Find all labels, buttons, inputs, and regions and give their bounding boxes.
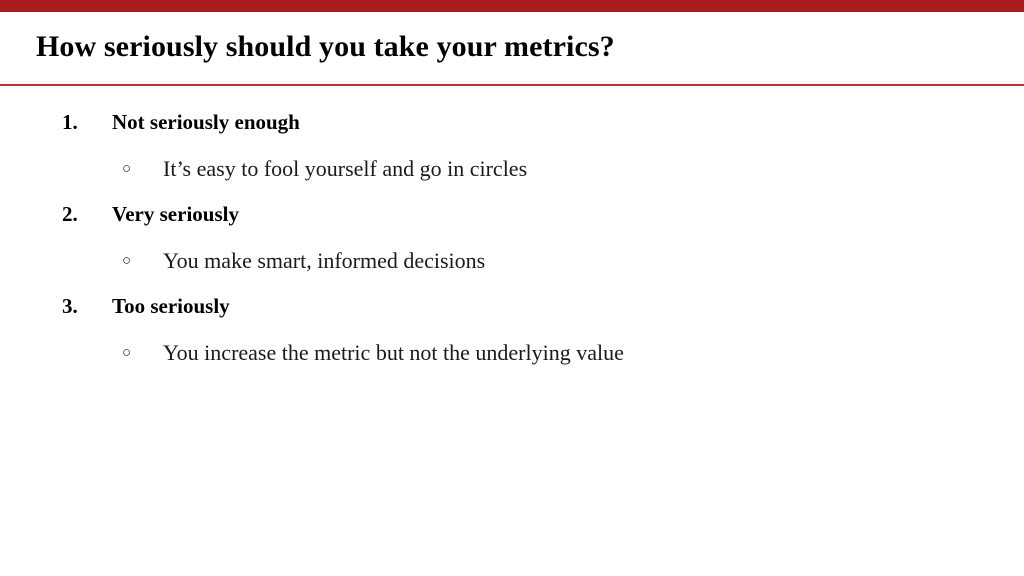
- list-item-label: Too seriously: [112, 294, 230, 319]
- list-item-number: 3.: [62, 294, 112, 319]
- sub-list-item: ○ You make smart, informed decisions: [0, 248, 1024, 294]
- list-item-label: Not seriously enough: [112, 110, 300, 135]
- sub-list-item-label: It’s easy to fool yourself and go in cir…: [163, 156, 527, 182]
- list-item: 1. Not seriously enough: [0, 110, 1024, 156]
- top-accent-bar: [0, 0, 1024, 12]
- sub-list-item: ○ It’s easy to fool yourself and go in c…: [0, 156, 1024, 202]
- circle-bullet-icon: ○: [122, 254, 163, 269]
- circle-bullet-icon: ○: [122, 346, 163, 361]
- sub-list-item-label: You make smart, informed decisions: [163, 248, 485, 274]
- list-item: 3. Too seriously: [0, 294, 1024, 340]
- sub-list-item-label: You increase the metric but not the unde…: [163, 340, 624, 366]
- list-item-label: Very seriously: [112, 202, 239, 227]
- content-list: 1. Not seriously enough ○ It’s easy to f…: [0, 110, 1024, 386]
- list-item-number: 2.: [62, 202, 112, 227]
- list-item: 2. Very seriously: [0, 202, 1024, 248]
- slide: How seriously should you take your metri…: [0, 0, 1024, 576]
- sub-list-item: ○ You increase the metric but not the un…: [0, 340, 1024, 386]
- circle-bullet-icon: ○: [122, 162, 163, 177]
- list-item-number: 1.: [62, 110, 112, 135]
- page-title: How seriously should you take your metri…: [36, 29, 615, 64]
- title-divider: [0, 84, 1024, 86]
